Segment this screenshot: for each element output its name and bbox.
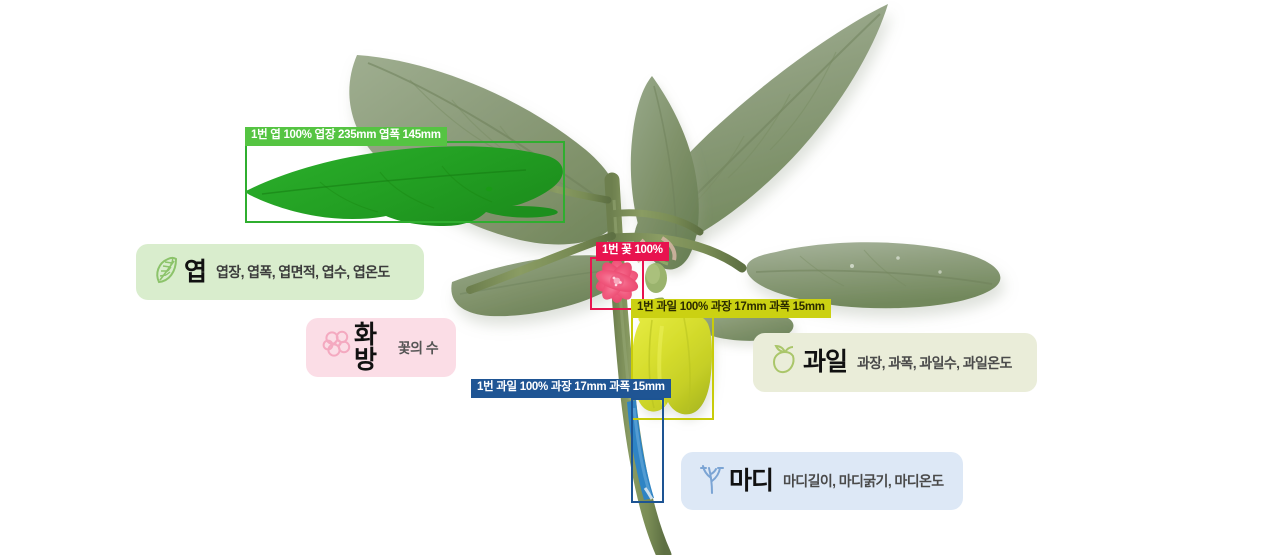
legend-desc-fruit: 과장, 과폭, 과일수, 과일온도 <box>857 356 1012 370</box>
legend-chip-leaf[interactable]: 엽 엽장, 엽폭, 엽면적, 엽수, 엽온도 <box>136 244 424 300</box>
node-icon <box>697 462 727 501</box>
legend-title-node: 마디 <box>729 469 773 494</box>
bbox-label-fruit[interactable]: 1번 과일 100% 과장 17mm 과폭 15mm <box>631 299 831 318</box>
legend-chip-flower[interactable]: 화방 꽃의 수 <box>306 318 456 377</box>
legend-desc-node: 마디길이, 마디굵기, 마디온도 <box>783 474 944 488</box>
bbox-label-node[interactable]: 1번 과일 100% 과장 17mm 과폭 15mm <box>471 379 671 398</box>
leaf-upper-right <box>634 4 888 254</box>
detection-canvas: 1번 엽 100% 엽장 235mm 엽폭 145mm 1번 꽃 100% 1번… <box>0 0 1280 555</box>
legend-title-flower: 화방 <box>354 323 388 373</box>
legend-chip-fruit[interactable]: 과일 과장, 과폭, 과일수, 과일온도 <box>753 333 1037 392</box>
legend-title-fruit: 과일 <box>803 350 847 375</box>
legend-chip-node[interactable]: 마디 마디길이, 마디굵기, 마디온도 <box>681 452 963 510</box>
bbox-label-flower[interactable]: 1번 꽃 100% <box>596 242 669 261</box>
legend-desc-leaf: 엽장, 엽폭, 엽면적, 엽수, 엽온도 <box>216 265 390 279</box>
leaf-icon <box>152 254 182 291</box>
bbox-leaf[interactable] <box>245 141 565 223</box>
bbox-label-leaf[interactable]: 1번 엽 100% 엽장 235mm 엽폭 145mm <box>245 127 447 146</box>
legend-title-leaf: 엽 <box>184 260 206 285</box>
bbox-node[interactable] <box>631 398 664 503</box>
legend-desc-flower: 꽃의 수 <box>398 341 438 355</box>
leaf-center-top <box>631 76 699 269</box>
fruit-icon <box>769 343 801 382</box>
flower-icon <box>322 329 352 366</box>
